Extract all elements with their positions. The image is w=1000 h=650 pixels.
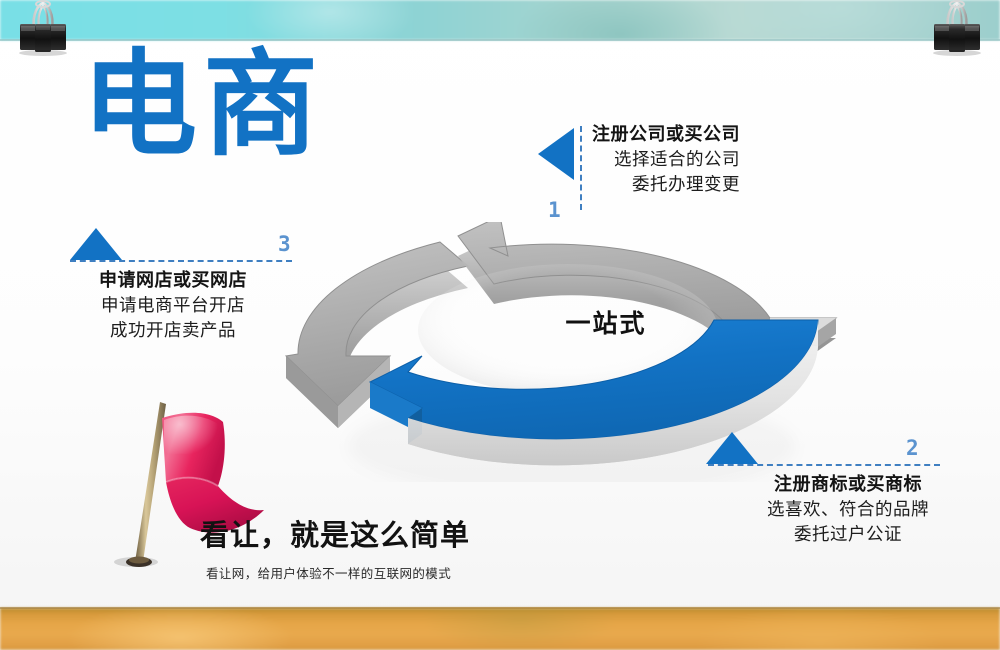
bottom-band-edge: [0, 607, 1000, 609]
step-3-number: 3: [278, 232, 291, 256]
bottom-photo-band: [0, 608, 1000, 650]
step-3-text: 申请网店或买网店 申请电商平台开店 成功开店卖产品: [58, 266, 288, 342]
step-3-heading: 申请网店或买网店: [58, 266, 288, 292]
step-3-line-1: 申请电商平台开店: [58, 292, 288, 317]
top-photo-band: [0, 0, 1000, 40]
step-1-text: 注册公司或买公司 选择适合的公司 委托办理变更: [592, 120, 740, 196]
tagline-block: 看让，就是这么简单 看让网，给用户体验不一样的互联网的模式: [200, 512, 470, 582]
triangle-left-icon: [538, 128, 574, 180]
step-2-number: 2: [906, 436, 919, 460]
page-title: 电商: [82, 46, 324, 164]
cycle-diagram: [262, 222, 862, 482]
step-2-line-1: 选喜欢、符合的品牌: [738, 496, 958, 521]
triangle-up-icon: [70, 228, 122, 260]
step-1-line-2: 委托办理变更: [592, 171, 740, 196]
slide-canvas: 电商: [0, 0, 1000, 650]
step-1-line-1: 选择适合的公司: [592, 146, 740, 171]
step-2-dashed-connector: [708, 464, 940, 466]
tagline-headline: 看让，就是这么简单: [200, 512, 470, 554]
step-1-dashed-connector: [580, 126, 582, 210]
step-2-heading: 注册商标或买商标: [738, 470, 958, 496]
tagline-subline: 看让网，给用户体验不一样的互联网的模式: [200, 563, 470, 582]
step-3-line-2: 成功开店卖产品: [58, 317, 288, 342]
step-1-number: 1: [548, 198, 561, 222]
step-2-text: 注册商标或买商标 选喜欢、符合的品牌 委托过户公证: [738, 470, 958, 546]
binder-clip-right-icon: [926, 0, 988, 56]
step-3-dashed-connector: [70, 260, 292, 262]
step-2-line-2: 委托过户公证: [738, 521, 958, 546]
binder-clip-left-icon: [12, 0, 74, 56]
step-1-heading: 注册公司或买公司: [592, 120, 740, 146]
triangle-up-icon: [706, 432, 758, 464]
